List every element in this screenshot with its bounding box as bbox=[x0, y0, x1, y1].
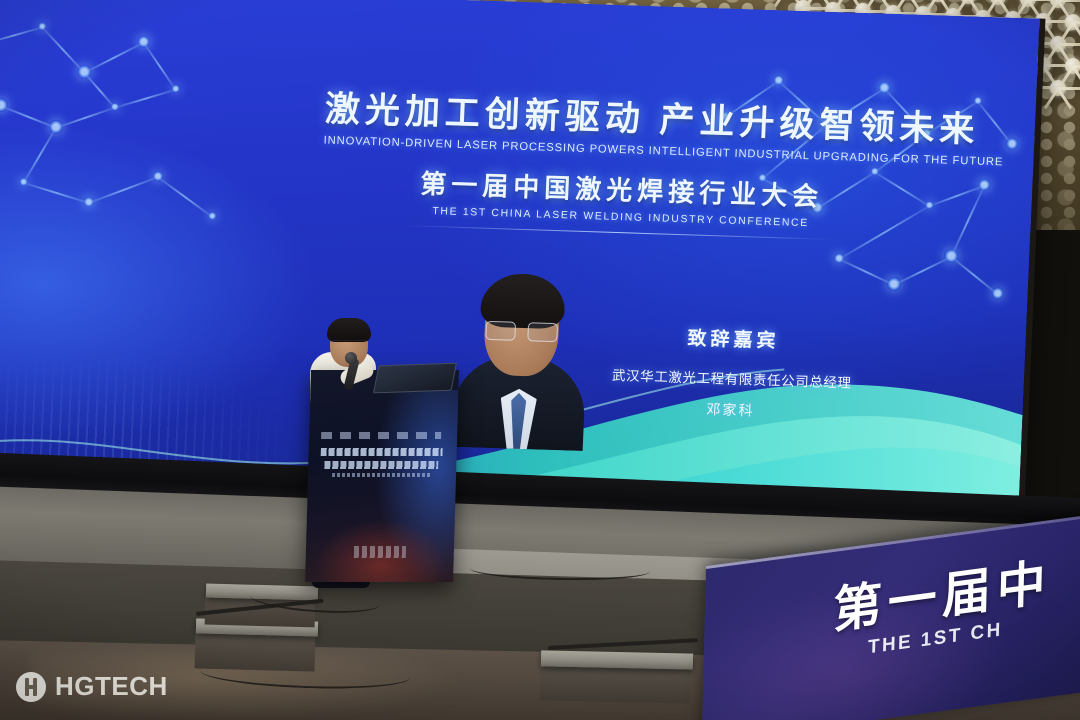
network-edge bbox=[874, 133, 927, 173]
network-edge bbox=[143, 42, 177, 90]
network-edge bbox=[88, 176, 158, 204]
network-edge bbox=[157, 176, 213, 217]
network-edge bbox=[0, 43, 2, 106]
network-edge bbox=[884, 88, 928, 135]
podium-lectern bbox=[305, 370, 459, 582]
podium-title-line-3 bbox=[332, 473, 430, 477]
network-edge bbox=[951, 256, 999, 295]
hgtech-circular-logo-icon bbox=[16, 672, 46, 702]
network-edge bbox=[826, 88, 885, 126]
network-edge bbox=[762, 124, 828, 179]
network-edge bbox=[23, 182, 89, 204]
hgtech-watermark: HGTECH bbox=[16, 671, 168, 702]
speaker-hair bbox=[327, 318, 371, 342]
network-edge bbox=[778, 80, 828, 125]
step-tread-right-lower bbox=[541, 650, 693, 669]
podium-title-line-2 bbox=[324, 461, 438, 469]
network-edge bbox=[41, 27, 85, 74]
network-edge bbox=[762, 178, 818, 210]
network-edge bbox=[874, 171, 930, 206]
network-edge bbox=[724, 80, 779, 118]
network-node bbox=[978, 178, 991, 191]
podium-sponsor-logo-strip bbox=[321, 432, 441, 439]
network-edge bbox=[817, 171, 876, 209]
network-edge bbox=[839, 205, 930, 260]
laptop-on-podium bbox=[373, 363, 457, 394]
network-edge bbox=[23, 127, 57, 183]
network-edge bbox=[894, 256, 952, 286]
network-edge bbox=[0, 105, 56, 129]
podium-title-line-1 bbox=[321, 448, 443, 456]
network-edge bbox=[115, 89, 176, 109]
network-edge bbox=[56, 107, 116, 129]
network-edge bbox=[0, 26, 42, 44]
speaker-glasses-icon bbox=[333, 340, 366, 350]
hgtech-logo-crossbar bbox=[25, 685, 37, 689]
network-edge bbox=[839, 258, 895, 286]
speaker-portrait-photo bbox=[443, 262, 599, 452]
screenshot-root: 激光加工创新驱动 产业升级智领未来 INNOVATION-DRIVEN LASE… bbox=[0, 0, 1080, 720]
network-edge bbox=[977, 101, 1013, 145]
network-edge bbox=[84, 72, 116, 108]
network-edge bbox=[926, 101, 978, 135]
hgtech-brand-text: HGTECH bbox=[55, 671, 168, 702]
microphone-head bbox=[345, 352, 357, 364]
network-edge bbox=[84, 42, 144, 74]
portrait-glasses-icon bbox=[485, 321, 558, 341]
podium-footer-logo bbox=[354, 546, 406, 558]
